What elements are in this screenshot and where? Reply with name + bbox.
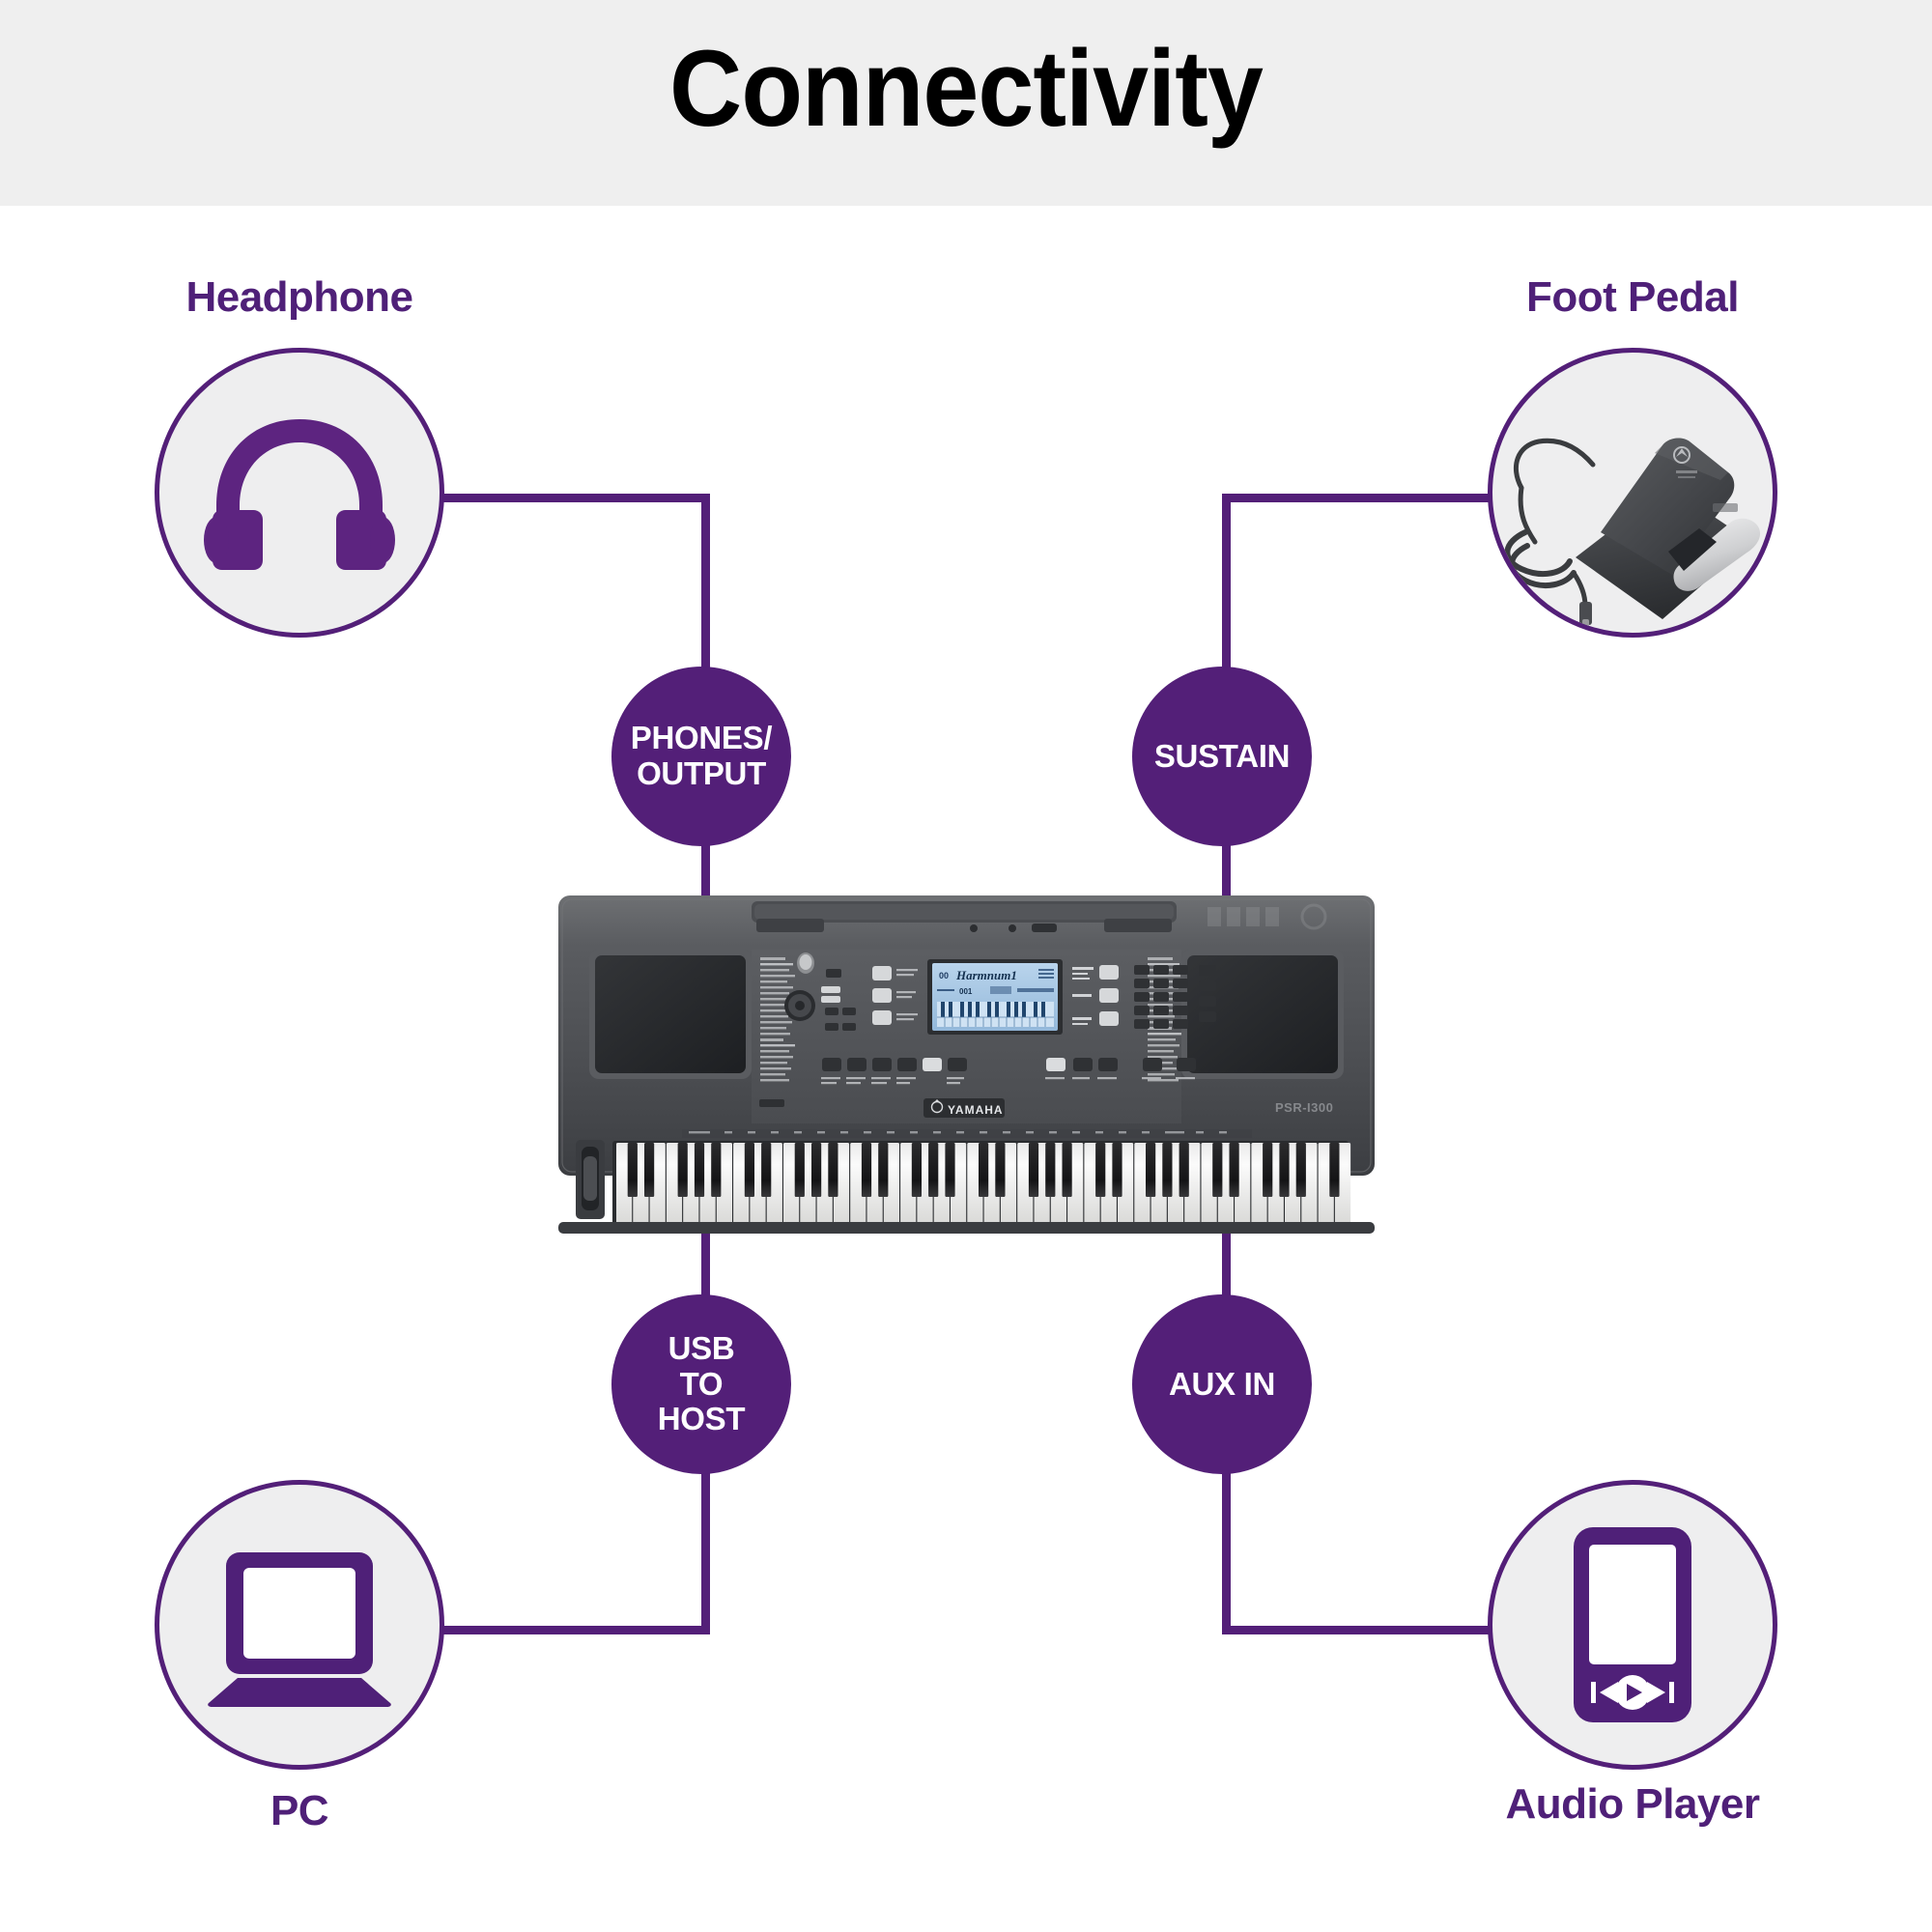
port-circle-usb-to-host[interactable]: USB TO HOST	[611, 1294, 791, 1474]
keyboard-model-text: PSR-I300	[1275, 1100, 1333, 1115]
connector-headphone-vertical	[701, 494, 710, 672]
connector-keyboard-to-usb	[701, 1225, 710, 1297]
connector-footpedal-horizontal	[1222, 494, 1492, 502]
yamaha-logo: YAMAHA	[923, 1098, 1005, 1118]
port-circle-aux-in[interactable]: AUX IN	[1132, 1294, 1312, 1474]
device-label-audio-player: Audio Player	[1381, 1780, 1884, 1829]
connector-usb-vertical	[701, 1454, 710, 1630]
port-label-aux-in: AUX IN	[1169, 1367, 1275, 1403]
device-label-pc: PC	[48, 1787, 551, 1835]
device-label-foot-pedal: Foot Pedal	[1381, 273, 1884, 322]
foot-pedal-photo	[1492, 353, 1773, 633]
connector-audioplayer-horizontal	[1222, 1626, 1492, 1634]
laptop-icon	[203, 1543, 396, 1707]
connector-aux-vertical	[1222, 1454, 1231, 1630]
connectivity-diagram: Connectivity Headphone Foot Pedal	[0, 0, 1932, 1932]
lcd-sub-value: 001	[959, 987, 973, 996]
port-circle-phones-output[interactable]: PHONES/ OUTPUT	[611, 667, 791, 846]
port-label-usb-to-host: USB TO HOST	[658, 1331, 745, 1438]
keyboard-image: 00 Harmnum1 001	[558, 894, 1375, 1234]
connector-keyboard-to-aux	[1222, 1225, 1231, 1297]
device-circle-audio-player[interactable]	[1488, 1480, 1777, 1770]
port-label-sustain: SUSTAIN	[1154, 739, 1290, 775]
port-label-phones-output: PHONES/ OUTPUT	[631, 721, 772, 792]
lcd-number: 00	[939, 971, 949, 980]
connector-headphone-horizontal	[440, 494, 710, 502]
device-label-headphone: Headphone	[48, 273, 551, 322]
audio-player-icon	[1570, 1523, 1695, 1726]
connector-footpedal-vertical	[1222, 494, 1231, 672]
device-circle-headphone[interactable]	[155, 348, 444, 638]
keyboard-brand-text: YAMAHA	[948, 1103, 1004, 1117]
lcd-voice-name: Harmnum1	[955, 968, 1017, 982]
headphone-icon	[203, 413, 396, 573]
page-title: Connectivity	[68, 29, 1864, 148]
port-circle-sustain[interactable]: SUSTAIN	[1132, 667, 1312, 846]
device-circle-pc[interactable]	[155, 1480, 444, 1770]
connector-pc-horizontal	[440, 1626, 710, 1634]
device-circle-foot-pedal[interactable]	[1488, 348, 1777, 638]
